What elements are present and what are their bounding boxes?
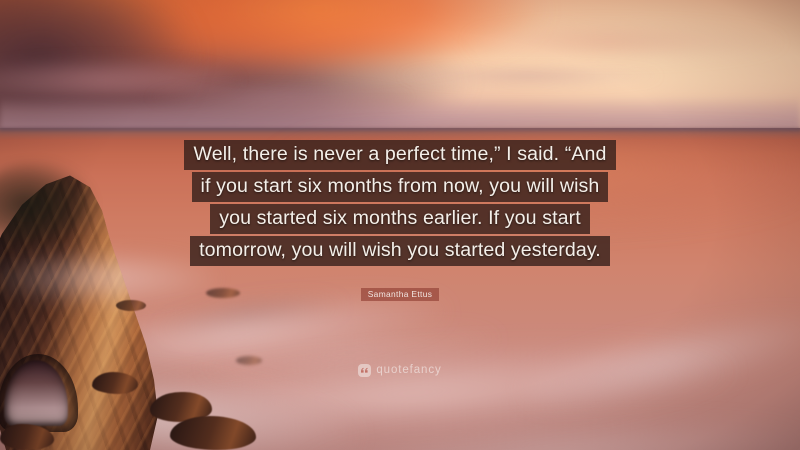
watermark-brand: quotefancy	[376, 364, 441, 377]
quote-line: you started six months earlier. If you s…	[210, 204, 590, 234]
quote-mark-logo-icon	[358, 364, 371, 377]
quote-line: Well, there is never a perfect time,” I …	[184, 140, 615, 170]
quote-author: Samantha Ettus	[361, 288, 440, 301]
quote-line-row: you started six months earlier. If you s…	[0, 204, 800, 234]
quote-line-row: Well, there is never a perfect time,” I …	[0, 140, 800, 170]
attribution-row: Samantha Ettus	[0, 288, 800, 301]
quote-image: Well, there is never a perfect time,” I …	[0, 0, 800, 450]
cloud-wisp	[400, 66, 660, 86]
quote-line-row: if you start six months from now, you wi…	[0, 172, 800, 202]
quote-text-block: Well, there is never a perfect time,” I …	[0, 140, 800, 268]
watermark: quotefancy	[0, 364, 800, 377]
cloud-wisp	[470, 22, 800, 62]
small-rock	[116, 300, 146, 311]
quote-line-row: tomorrow, you will wish you started yest…	[0, 236, 800, 266]
horizon-haze	[0, 96, 800, 130]
quote-line: tomorrow, you will wish you started yest…	[190, 236, 610, 266]
quote-line: if you start six months from now, you wi…	[192, 172, 609, 202]
